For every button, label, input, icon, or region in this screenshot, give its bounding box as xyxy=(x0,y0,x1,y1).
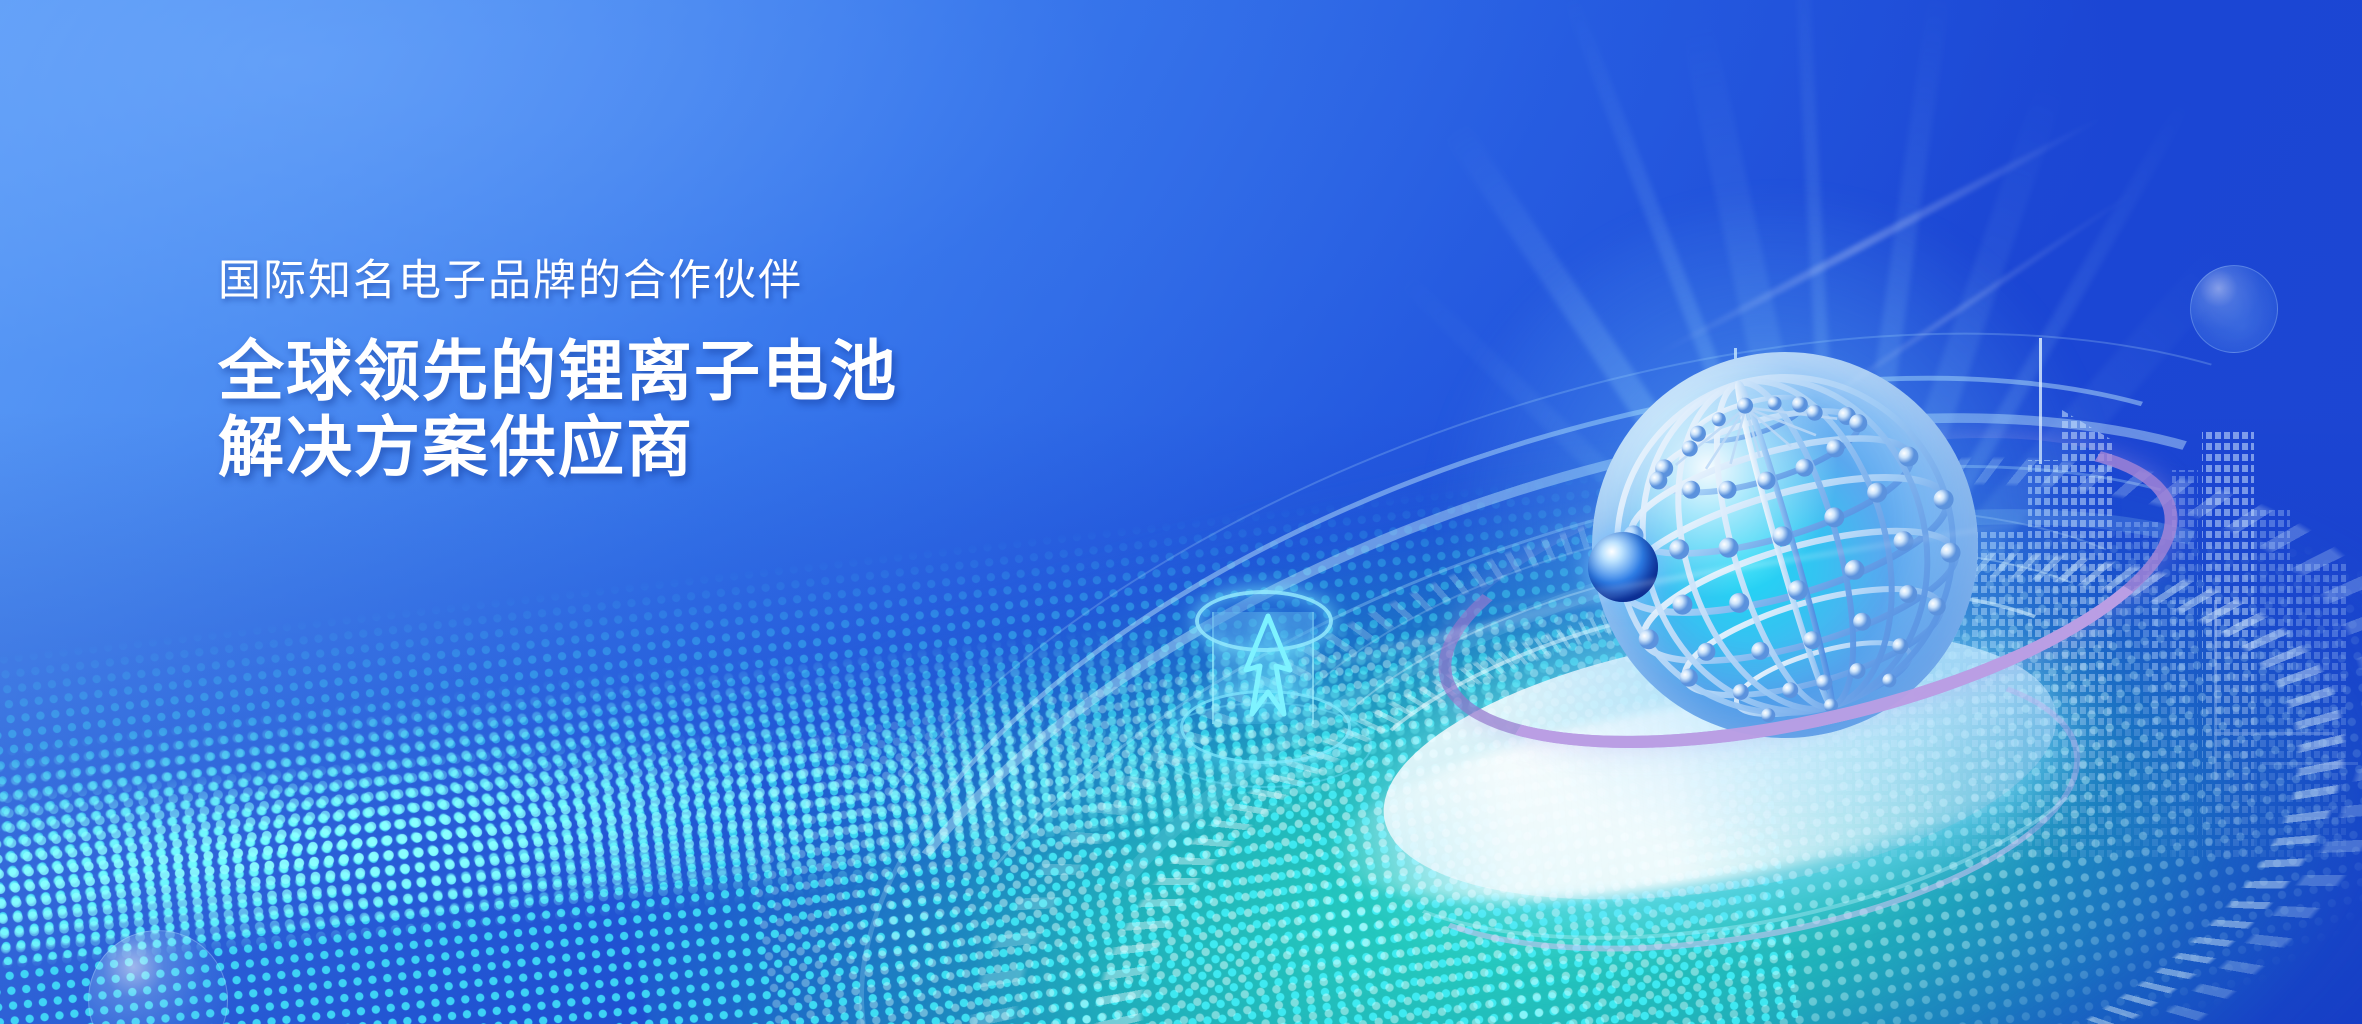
hero-headline-line-2: 解决方案供应商 xyxy=(218,409,898,486)
hero-text-block: 国际知名电子品牌的合作伙伴 全球领先的锂离子电池 解决方案供应商 xyxy=(218,255,898,486)
hero-eyebrow: 国际知名电子品牌的合作伙伴 xyxy=(218,255,898,309)
hero-banner: 国际知名电子品牌的合作伙伴 全球领先的锂离子电池 解决方案供应商 xyxy=(0,0,2362,1024)
hero-headline-line-1: 全球领先的锂离子电池 xyxy=(218,333,898,410)
cursor-arrow-icon xyxy=(1238,608,1298,728)
bubble-icon xyxy=(2190,265,2278,353)
